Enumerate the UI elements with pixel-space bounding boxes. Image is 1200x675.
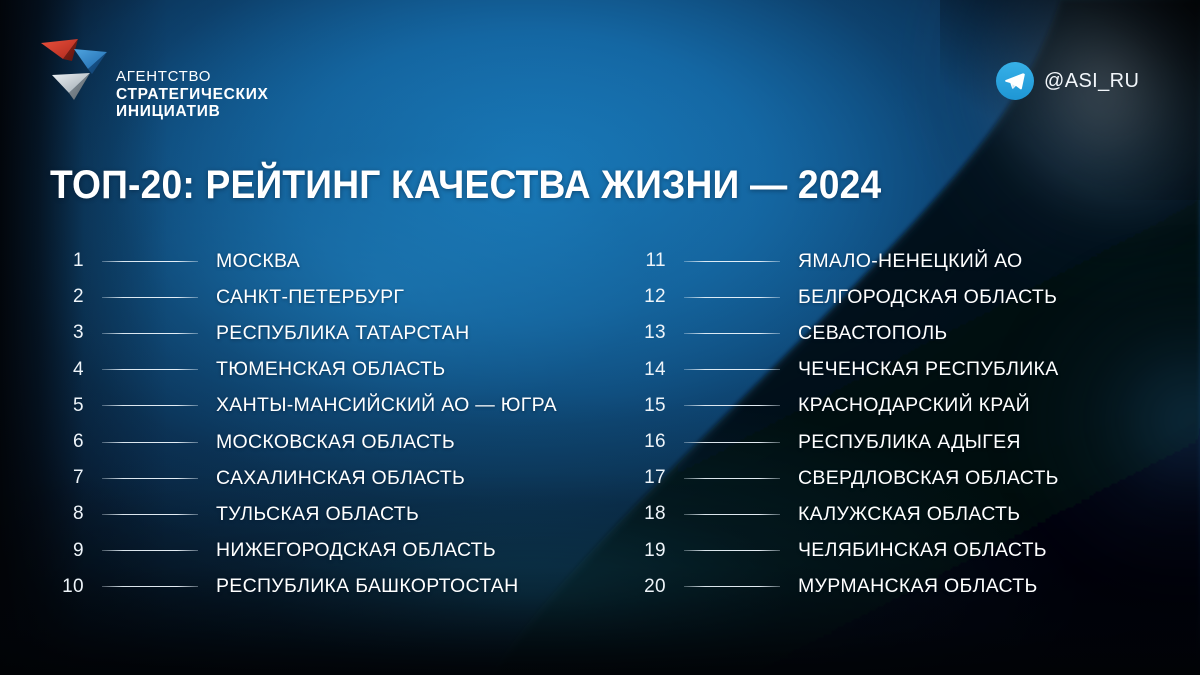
rank-number: 10 [52, 576, 84, 598]
rank-number: 11 [634, 250, 666, 272]
ranking-row: 18КАЛУЖСКАЯ ОБЛАСТЬ [634, 496, 1059, 532]
brand-logo[interactable]: АГЕНТСТВО СТРАТЕГИЧЕСКИХ ИНИЦИАТИВ [38, 28, 269, 121]
rank-number: 6 [52, 431, 84, 453]
ranking-row: 20МУРМАНСКАЯ ОБЛАСТЬ [634, 569, 1059, 605]
rank-rule-line [102, 297, 198, 298]
region-name: ЯМАЛО-НЕНЕЦКИЙ АО [798, 250, 1022, 273]
telegram-icon[interactable] [996, 62, 1034, 100]
ranking-row: 6МОСКОВСКАЯ ОБЛАСТЬ [52, 424, 557, 460]
region-name: ТУЛЬСКАЯ ОБЛАСТЬ [216, 503, 419, 526]
rank-rule-line [684, 369, 780, 370]
telegram-handle[interactable]: @ASI_RU [1044, 70, 1139, 93]
region-name: ЧЕЧЕНСКАЯ РЕСПУБЛИКА [798, 358, 1059, 381]
rank-rule-line [102, 514, 198, 515]
region-name: ТЮМЕНСКАЯ ОБЛАСТЬ [216, 358, 445, 381]
background-corner-shade [940, 0, 1200, 200]
region-name: ЧЕЛЯБИНСКАЯ ОБЛАСТЬ [798, 539, 1047, 562]
ranking-row: 4ТЮМЕНСКАЯ ОБЛАСТЬ [52, 352, 557, 388]
brand-line-1: АГЕНТСТВО [116, 69, 269, 86]
ranking-column-left: 1МОСКВА2САНКТ-ПЕТЕРБУРГ3РЕСПУБЛИКА ТАТАР… [52, 243, 557, 605]
infographic-slide: АГЕНТСТВО СТРАТЕГИЧЕСКИХ ИНИЦИАТИВ @ASI_… [0, 0, 1200, 675]
asi-arrow-logo-icon [38, 28, 110, 108]
rank-rule-line [102, 478, 198, 479]
ranking-row: 9НИЖЕГОРОДСКАЯ ОБЛАСТЬ [52, 533, 557, 569]
region-name: МОСКОВСКАЯ ОБЛАСТЬ [216, 431, 455, 454]
rank-number: 9 [52, 540, 84, 562]
ranking-row: 16РЕСПУБЛИКА АДЫГЕЯ [634, 424, 1059, 460]
rank-rule-line [684, 514, 780, 515]
rank-rule-line [102, 550, 198, 551]
ranking-row: 5ХАНТЫ-МАНСИЙСКИЙ АО — ЮГРА [52, 388, 557, 424]
ranking-column-right: 11ЯМАЛО-НЕНЕЦКИЙ АО12БЕЛГОРОДСКАЯ ОБЛАСТ… [634, 243, 1059, 605]
telegram-badge[interactable]: @ASI_RU [996, 62, 1139, 100]
region-name: РЕСПУБЛИКА БАШКОРТОСТАН [216, 575, 518, 598]
region-name: СЕВАСТОПОЛЬ [798, 322, 948, 345]
ranking-row: 19ЧЕЛЯБИНСКАЯ ОБЛАСТЬ [634, 533, 1059, 569]
rank-number: 13 [634, 322, 666, 344]
region-name: МУРМАНСКАЯ ОБЛАСТЬ [798, 575, 1038, 598]
region-name: САХАЛИНСКАЯ ОБЛАСТЬ [216, 467, 465, 490]
rank-rule-line [684, 333, 780, 334]
rank-rule-line [102, 405, 198, 406]
rank-rule-line [684, 442, 780, 443]
rank-number: 14 [634, 359, 666, 381]
rank-rule-line [684, 261, 780, 262]
brand-line-2: СТРАТЕГИЧЕСКИХ [116, 86, 269, 103]
rank-rule-line [684, 550, 780, 551]
rank-number: 18 [634, 503, 666, 525]
rank-rule-line [102, 369, 198, 370]
rank-number: 12 [634, 286, 666, 308]
region-name: НИЖЕГОРОДСКАЯ ОБЛАСТЬ [216, 539, 496, 562]
ranking-row: 11ЯМАЛО-НЕНЕЦКИЙ АО [634, 243, 1059, 279]
region-name: КРАСНОДАРСКИЙ КРАЙ [798, 394, 1030, 417]
rank-number: 4 [52, 359, 84, 381]
rank-number: 17 [634, 467, 666, 489]
rank-number: 19 [634, 540, 666, 562]
rank-number: 7 [52, 467, 84, 489]
ranking-row: 12БЕЛГОРОДСКАЯ ОБЛАСТЬ [634, 279, 1059, 315]
region-name: РЕСПУБЛИКА ТАТАРСТАН [216, 322, 469, 345]
region-name: СВЕРДЛОВСКАЯ ОБЛАСТЬ [798, 467, 1059, 490]
region-name: РЕСПУБЛИКА АДЫГЕЯ [798, 431, 1021, 454]
rank-rule-line [684, 405, 780, 406]
rank-number: 1 [52, 250, 84, 272]
ranking-row: 15КРАСНОДАРСКИЙ КРАЙ [634, 388, 1059, 424]
ranking-row: 10РЕСПУБЛИКА БАШКОРТОСТАН [52, 569, 557, 605]
rank-rule-line [102, 586, 198, 587]
region-name: ХАНТЫ-МАНСИЙСКИЙ АО — ЮГРА [216, 394, 557, 417]
ranking-row: 14ЧЕЧЕНСКАЯ РЕСПУБЛИКА [634, 352, 1059, 388]
rank-number: 3 [52, 322, 84, 344]
region-name: БЕЛГОРОДСКАЯ ОБЛАСТЬ [798, 286, 1057, 309]
rank-number: 8 [52, 503, 84, 525]
rank-rule-line [102, 261, 198, 262]
brand-line-3: ИНИЦИАТИВ [116, 103, 269, 120]
rank-number: 20 [634, 576, 666, 598]
rank-number: 2 [52, 286, 84, 308]
ranking-row: 8ТУЛЬСКАЯ ОБЛАСТЬ [52, 496, 557, 532]
rank-number: 5 [52, 395, 84, 417]
ranking-row: 1МОСКВА [52, 243, 557, 279]
region-name: САНКТ-ПЕТЕРБУРГ [216, 286, 404, 309]
ranking-row: 2САНКТ-ПЕТЕРБУРГ [52, 279, 557, 315]
ranking-row: 17СВЕРДЛОВСКАЯ ОБЛАСТЬ [634, 460, 1059, 496]
rank-rule-line [102, 442, 198, 443]
rank-rule-line [684, 297, 780, 298]
rank-rule-line [684, 586, 780, 587]
rank-number: 15 [634, 395, 666, 417]
ranking-row: 3РЕСПУБЛИКА ТАТАРСТАН [52, 315, 557, 351]
page-title: ТОП-20: РЕЙТИНГ КАЧЕСТВА ЖИЗНИ — 2024 [50, 163, 881, 208]
rank-number: 16 [634, 431, 666, 453]
region-name: КАЛУЖСКАЯ ОБЛАСТЬ [798, 503, 1020, 526]
rank-rule-line [102, 333, 198, 334]
ranking-row: 13СЕВАСТОПОЛЬ [634, 315, 1059, 351]
region-name: МОСКВА [216, 250, 300, 273]
rank-rule-line [684, 478, 780, 479]
ranking-row: 7САХАЛИНСКАЯ ОБЛАСТЬ [52, 460, 557, 496]
